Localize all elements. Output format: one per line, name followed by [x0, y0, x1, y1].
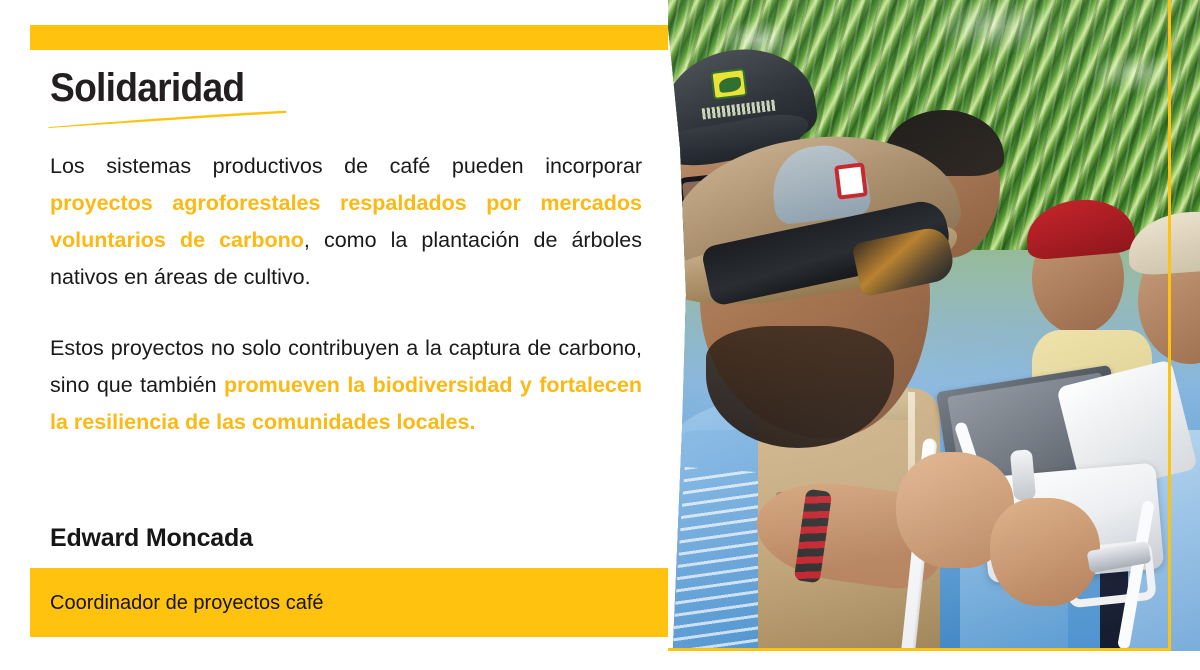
- content-column: Solidaridad Los sistemas productivos de …: [0, 0, 668, 670]
- photo-frame-bottom-line: [668, 648, 1171, 651]
- team-photo: [660, 0, 1200, 651]
- top-accent-bar: [30, 25, 668, 50]
- right-hand: [990, 498, 1100, 606]
- photo-panel: [660, 0, 1200, 670]
- controller-joystick: [1010, 449, 1036, 501]
- photo-clip-shape: [660, 0, 1200, 670]
- body-text-block: Los sistemas productivos de café pueden …: [50, 148, 642, 441]
- cap-logo-icon: [834, 162, 868, 199]
- swoosh-underline-icon: [48, 110, 288, 128]
- john-deere-logo-icon: [710, 68, 747, 100]
- logo-wordmark: Solidaridad: [50, 66, 329, 110]
- paragraph-2: Estos proyectos no solo contribuyen a la…: [50, 330, 642, 441]
- presentation-slide: Solidaridad Los sistemas productivos de …: [0, 0, 1200, 670]
- solidaridad-logo: Solidaridad: [50, 66, 350, 132]
- p1-run-1: Los sistemas productivos de café pueden …: [50, 154, 642, 178]
- photo-frame-right-line: [1168, 0, 1171, 651]
- paragraph-1: Los sistemas productivos de café pueden …: [50, 148, 642, 296]
- speaker-role: Coordinador de proyectos café: [50, 592, 324, 615]
- speaker-name: Edward Moncada: [50, 524, 253, 553]
